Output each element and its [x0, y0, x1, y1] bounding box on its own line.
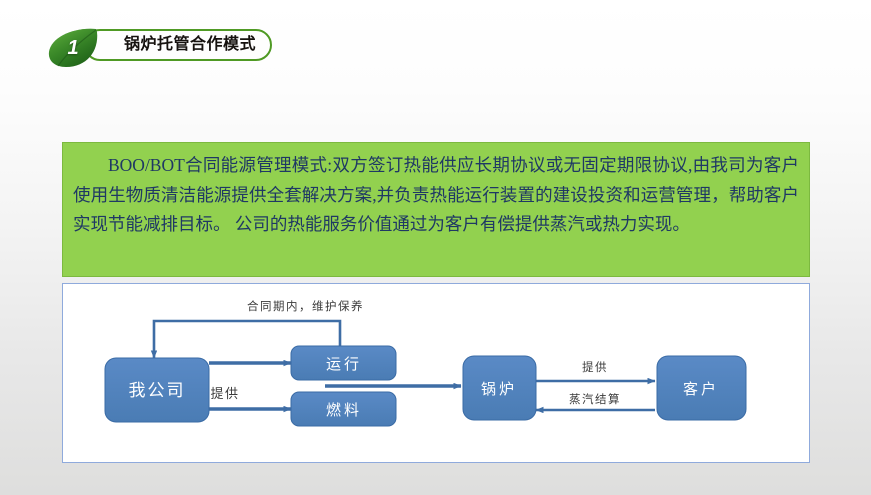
edge-label-settlement: 蒸汽结算: [569, 392, 621, 406]
edge-label-supply-left: 提供: [210, 386, 239, 401]
node-customer-label: 客户: [683, 381, 719, 398]
node-operation[interactable]: 运行: [291, 346, 396, 380]
node-fuel-label: 燃料: [326, 401, 362, 419]
leaf-badge: 1: [44, 26, 102, 68]
node-company-label: 我公司: [129, 381, 186, 400]
diagram-panel: 我公司 运行 燃料 锅炉 客户 合同期内，维护保养 提供 提供 蒸汽结算: [62, 283, 810, 463]
node-company[interactable]: 我公司: [105, 358, 209, 422]
description-block: BOO/BOT合同能源管理模式:双方签订热能供应长期协议或无固定期限协议,由我司…: [62, 142, 810, 277]
edge-label-supply-right: 提供: [582, 360, 608, 374]
node-fuel[interactable]: 燃料: [291, 392, 396, 426]
node-boiler-label: 锅炉: [481, 381, 517, 398]
node-customer[interactable]: 客户: [657, 356, 746, 420]
process-flow-diagram: 我公司 运行 燃料 锅炉 客户 合同期内，维护保养 提供 提供 蒸汽结算: [63, 284, 808, 461]
description-text: BOO/BOT合同能源管理模式:双方签订热能供应长期协议或无固定期限协议,由我司…: [73, 151, 799, 240]
header-banner: 锅炉托管合作模式 1: [44, 26, 284, 68]
leaf-icon: [44, 26, 102, 68]
page-title: 锅炉托管合作模式: [102, 30, 278, 60]
node-boiler[interactable]: 锅炉: [463, 356, 536, 420]
node-operation-label: 运行: [326, 356, 362, 373]
edge-label-maintenance: 合同期内，维护保养: [247, 299, 364, 313]
